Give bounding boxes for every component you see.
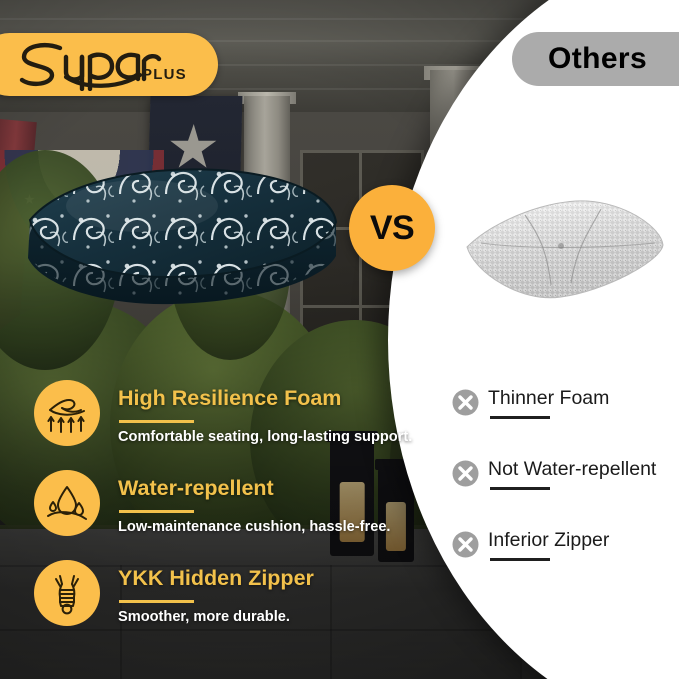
- feature-subtitle: Comfortable seating, long-lasting suppor…: [118, 429, 412, 445]
- feature-title: Water-repellent: [118, 476, 274, 501]
- drawback-divider: [490, 487, 550, 490]
- circle-x-icon: [452, 460, 479, 487]
- drawback-list: Thinner Foam Not Water-repellent Inferio…: [452, 385, 677, 598]
- feature-divider: [119, 600, 194, 603]
- feature-divider: [119, 420, 194, 423]
- zipper-icon: [34, 560, 100, 626]
- feature-item-ykk-hidden-zipper: YKK Hidden Zipper Smoother, more durable…: [34, 558, 384, 648]
- drawback-item-thinner-foam: Thinner Foam: [452, 385, 677, 456]
- water-droplet-repellent-icon: [34, 470, 100, 536]
- others-label: Others: [512, 42, 647, 76]
- feature-subtitle: Low-maintenance cushion, hassle-free.: [118, 519, 391, 535]
- drawback-divider: [490, 558, 550, 561]
- feature-title: High Resilience Foam: [118, 386, 341, 411]
- vs-badge: VS: [349, 185, 435, 271]
- feature-divider: [119, 510, 194, 513]
- feature-item-high-resilience-foam: High Resilience Foam Comfortable seating…: [34, 378, 384, 468]
- feature-list: High Resilience Foam Comfortable seating…: [34, 378, 384, 648]
- circle-x-icon: [452, 531, 479, 558]
- drawback-item-inferior-zipper: Inferior Zipper: [452, 527, 677, 598]
- others-badge: Others: [512, 32, 679, 86]
- circle-x-icon: [452, 389, 479, 416]
- drawback-label: Not Water-repellent: [488, 458, 656, 481]
- product-image-supdur-cushion: [22, 160, 342, 330]
- vs-label: VS: [370, 209, 414, 248]
- drawback-label: Thinner Foam: [488, 387, 609, 410]
- drawback-item-not-water-repellent: Not Water-repellent: [452, 456, 677, 527]
- hand-pressing-foam-arrows-icon: [34, 380, 100, 446]
- supdur-wordmark: [14, 39, 164, 91]
- logo-plus-label: PLUS: [142, 66, 187, 83]
- brand-logo: PLUS: [0, 33, 218, 96]
- product-image-others-cushion: [455, 185, 670, 310]
- feature-title: YKK Hidden Zipper: [118, 566, 314, 591]
- feature-subtitle: Smoother, more durable.: [118, 609, 290, 625]
- drawback-label: Inferior Zipper: [488, 529, 609, 552]
- drawback-divider: [490, 416, 550, 419]
- comparison-infographic: PLUS Others VS: [0, 0, 679, 679]
- feature-item-water-repellent: Water-repellent Low-maintenance cushion,…: [34, 468, 384, 558]
